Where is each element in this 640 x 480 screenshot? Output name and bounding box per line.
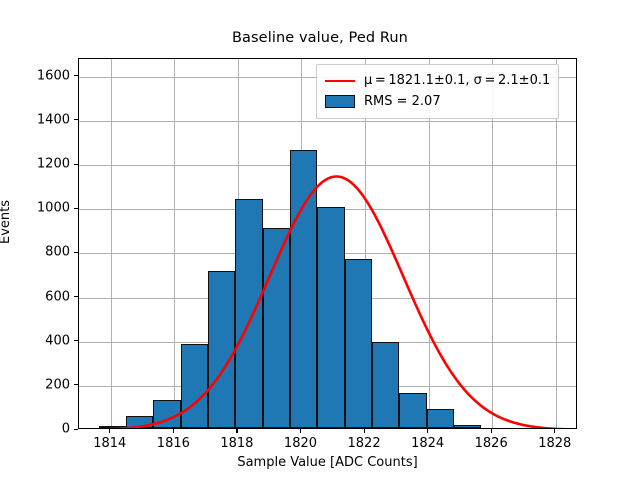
- gaussian-fit-path: [79, 176, 577, 429]
- x-axis-tick-mark: [364, 429, 365, 433]
- legend-entry-fit: μ = 1821.1±0.1, σ = 2.1±0.1: [325, 70, 550, 91]
- legend-line-swatch-icon: [325, 80, 355, 82]
- x-axis-tick-label: 1818: [207, 436, 267, 451]
- x-axis-tick-mark: [109, 429, 110, 433]
- x-axis-label: Sample Value [ADC Counts]: [78, 455, 577, 470]
- y-axis-tick-label: 200: [10, 377, 70, 392]
- x-axis-tick-label: 1826: [461, 436, 521, 451]
- x-axis-tick-label: 1814: [80, 436, 140, 451]
- legend-label-histogram: RMS = 2.07: [364, 94, 441, 109]
- y-axis-tick-label: 800: [10, 245, 70, 260]
- x-axis-tick-label: 1828: [525, 436, 585, 451]
- x-axis-tick-label: 1816: [143, 436, 203, 451]
- y-axis-tick-label: 400: [10, 333, 70, 348]
- x-axis-tick-mark: [554, 429, 555, 433]
- chart-title: Baseline value, Ped Run: [0, 30, 640, 46]
- legend-entry-histogram: RMS = 2.07: [325, 91, 550, 112]
- x-axis-tick-mark: [427, 429, 428, 433]
- legend-patch-swatch-icon: [325, 95, 355, 108]
- x-axis-tick-mark: [491, 429, 492, 433]
- x-axis-tick-label: 1824: [398, 436, 458, 451]
- x-axis-tick-label: 1822: [334, 436, 394, 451]
- y-axis-tick-label: 1000: [10, 201, 70, 216]
- x-axis-tick-mark: [236, 429, 237, 433]
- y-axis-tick-label: 0: [10, 422, 70, 437]
- y-axis-tick-label: 600: [10, 289, 70, 304]
- legend: μ = 1821.1±0.1, σ = 2.1±0.1 RMS = 2.07: [316, 64, 559, 119]
- x-axis-tick-mark: [300, 429, 301, 433]
- x-axis-tick-label: 1820: [270, 436, 330, 451]
- y-axis-tick-label: 1200: [10, 157, 70, 172]
- y-axis-tick-label: 1400: [10, 112, 70, 127]
- legend-label-fit: μ = 1821.1±0.1, σ = 2.1±0.1: [364, 73, 550, 88]
- x-axis-tick-mark: [173, 429, 174, 433]
- figure: Baseline value, Ped Run Events Sample Va…: [0, 0, 640, 480]
- y-axis-tick-label: 1600: [10, 68, 70, 83]
